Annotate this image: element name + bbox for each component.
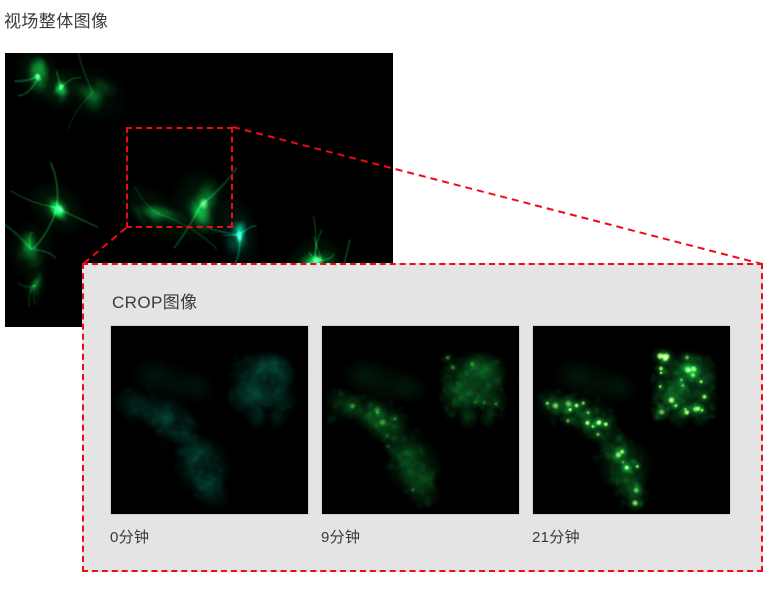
crop-caption-1: 9分钟 xyxy=(321,528,520,548)
crop-caption-0: 0分钟 xyxy=(110,528,309,548)
crop-canvas-2 xyxy=(533,326,730,514)
crop-thumbnail-1[interactable] xyxy=(321,325,520,515)
page-title: 视场整体图像 xyxy=(4,11,108,33)
crop-frame-1[interactable]: 9分钟 xyxy=(321,325,520,548)
crop-detail-panel: CROP图像 0分钟 9分钟 21分钟 xyxy=(82,263,763,572)
crop-panel-title: CROP图像 xyxy=(112,292,198,314)
crop-caption-2: 21分钟 xyxy=(532,528,731,548)
crop-thumbnail-2[interactable] xyxy=(532,325,731,515)
crop-frame-2[interactable]: 21分钟 xyxy=(532,325,731,548)
crop-canvas-0 xyxy=(111,326,308,514)
crop-thumbnail-0[interactable] xyxy=(110,325,309,515)
crop-thumbnail-strip: 0分钟 9分钟 21分钟 xyxy=(110,325,731,548)
crop-frame-0[interactable]: 0分钟 xyxy=(110,325,309,548)
crop-canvas-1 xyxy=(322,326,519,514)
